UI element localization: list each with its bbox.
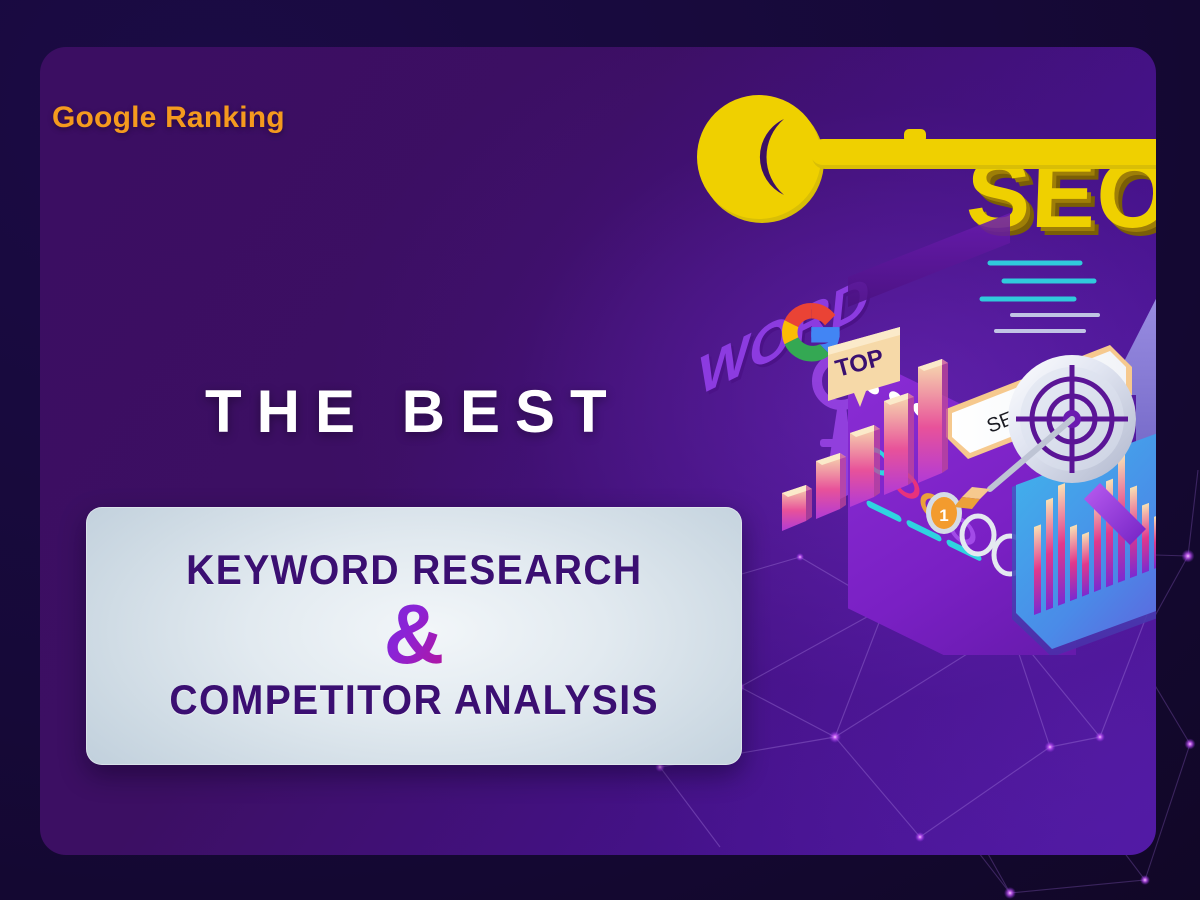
page-kicker: Google Ranking	[52, 101, 285, 135]
page-title: THE BEST	[205, 382, 622, 442]
card-line-keyword-research: KEYWORD RESEARCH	[186, 546, 642, 594]
highlight-card: KEYWORD RESEARCH & COMPETITOR ANALYSIS	[86, 507, 742, 765]
card-line-competitor-analysis: COMPETITOR ANALYSIS	[169, 676, 659, 724]
card-ampersand: &	[384, 596, 445, 673]
poster-canvas: SEO SEO SEO WORD WORD	[0, 0, 1200, 900]
